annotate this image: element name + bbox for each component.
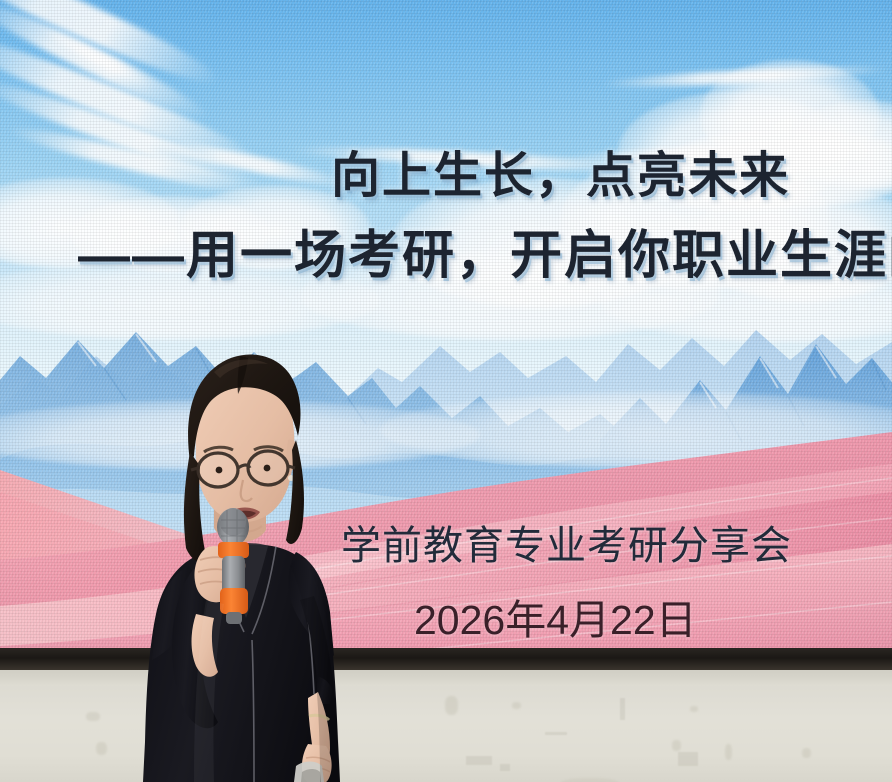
presentation-photo: 向上生长，点亮未来 ——用一场考研，开启你职业生涯的新 学前教育专业考研分享会 … bbox=[0, 0, 892, 782]
speaker-figure bbox=[0, 0, 892, 782]
